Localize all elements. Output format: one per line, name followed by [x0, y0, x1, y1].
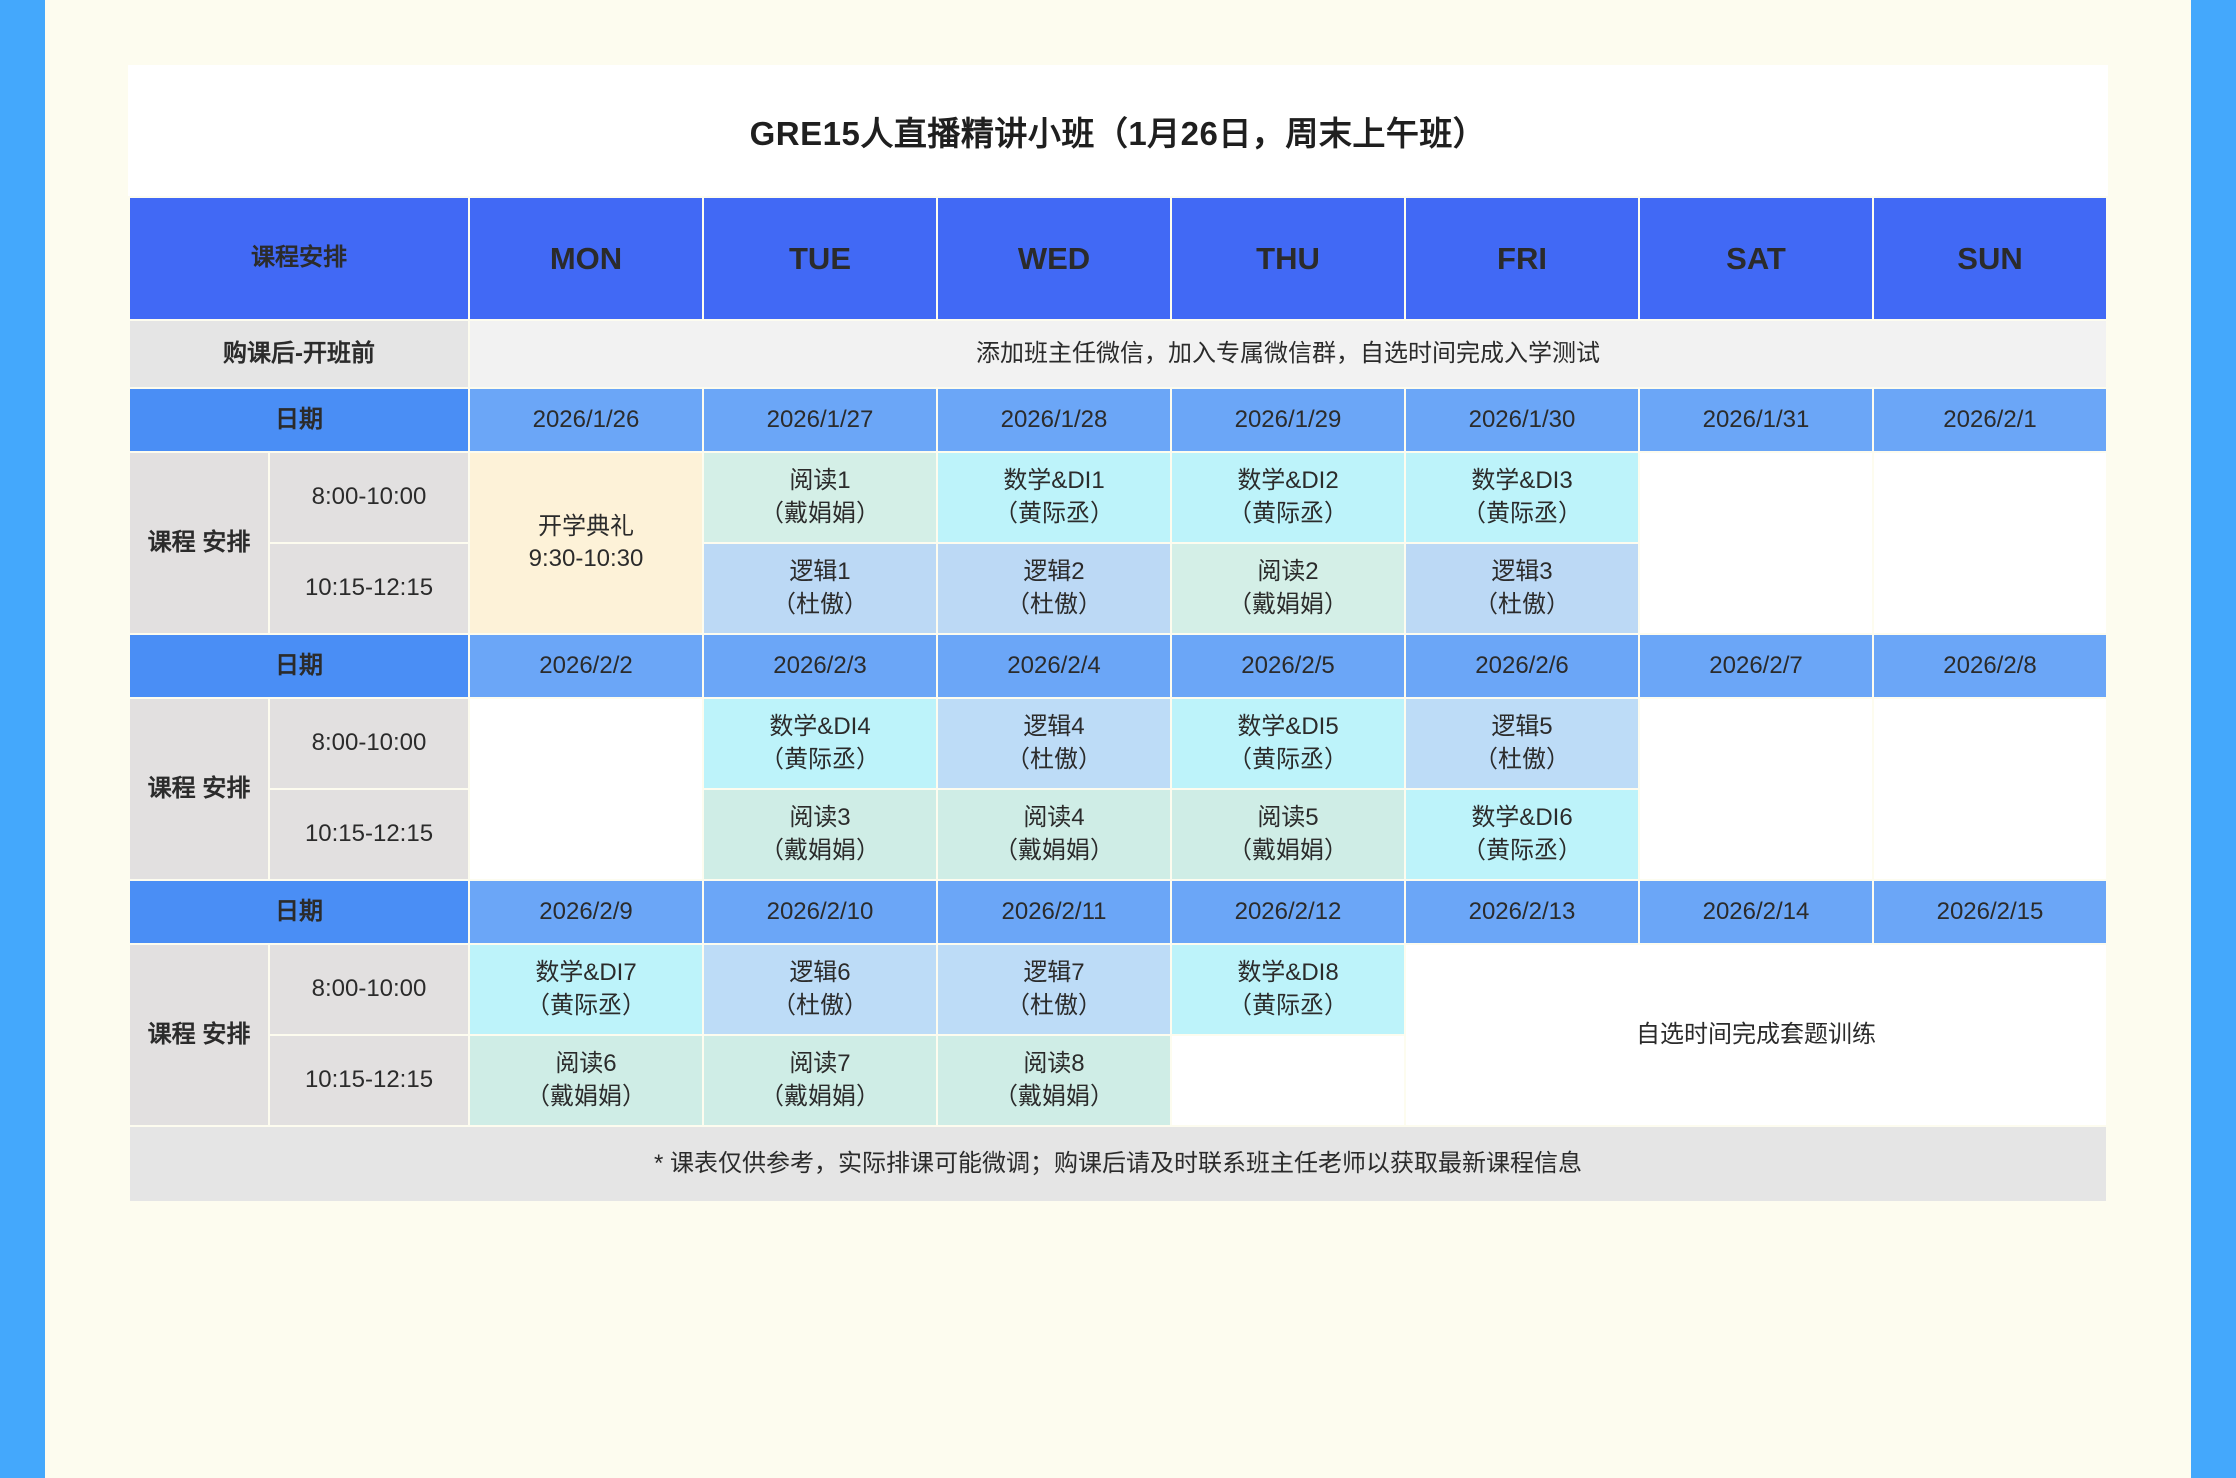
class-title: 阅读1	[704, 465, 936, 497]
date-row-week1: 日期 2026/1/26 2026/1/27 2026/1/28 2026/1/…	[129, 388, 2107, 452]
class-cell: 逻辑4 （杜傲）	[937, 698, 1171, 789]
table-header-row: 课程安排 MON TUE WED THU FRI SAT SUN	[129, 197, 2107, 320]
date-cell: 2026/2/1	[1873, 388, 2107, 452]
header-day-sat: SAT	[1639, 197, 1873, 320]
class-cell: 逻辑7 （杜傲）	[937, 944, 1171, 1035]
class-cell: 数学&DI7 （黄际丞）	[469, 944, 703, 1035]
header-day-wed: WED	[937, 197, 1171, 320]
time-slot-morning: 8:00-10:00	[269, 944, 469, 1035]
time-slot-late: 10:15-12:15	[269, 789, 469, 880]
class-title: 数学&DI8	[1172, 957, 1404, 989]
class-title: 逻辑5	[1406, 711, 1638, 743]
time-slot-morning: 8:00-10:00	[269, 452, 469, 543]
class-cell: 数学&DI1 （黄际丞）	[937, 452, 1171, 543]
class-title: 逻辑3	[1406, 556, 1638, 588]
date-row-label-3: 日期	[129, 880, 469, 944]
class-row-week3-morning: 课程 安排 8:00-10:00 数学&DI7 （黄际丞） 逻辑6 （杜傲） 逻…	[129, 944, 2107, 1035]
date-cell: 2026/2/2	[469, 634, 703, 698]
header-day-mon: MON	[469, 197, 703, 320]
class-cell: 阅读7 （戴娟娟）	[703, 1035, 937, 1126]
date-cell: 2026/2/8	[1873, 634, 2107, 698]
class-cell: 阅读3 （戴娟娟）	[703, 789, 937, 880]
class-title: 数学&DI3	[1406, 465, 1638, 497]
class-title: 数学&DI5	[1172, 711, 1404, 743]
date-cell: 2026/1/27	[703, 388, 937, 452]
header-day-sun: SUN	[1873, 197, 2107, 320]
date-cell: 2026/2/3	[703, 634, 937, 698]
date-cell: 2026/1/29	[1171, 388, 1405, 452]
class-cell: 阅读6 （戴娟娟）	[469, 1035, 703, 1126]
schedule-sheet: GRE15人直播精讲小班（1月26日，周末上午班） 课程安排 MON TUE W…	[128, 65, 2108, 1203]
date-cell: 2026/1/30	[1405, 388, 1639, 452]
class-teacher: （杜傲）	[1406, 589, 1638, 621]
class-cell-empty	[1639, 698, 1873, 880]
class-teacher: （黄际丞）	[1172, 990, 1404, 1022]
class-time: 9:30-10:30	[470, 543, 702, 575]
class-teacher: （戴娟娟）	[704, 498, 936, 530]
class-title: 阅读5	[1172, 802, 1404, 834]
class-title: 逻辑7	[938, 957, 1170, 989]
class-row-week2-morning: 课程 安排 8:00-10:00 数学&DI4 （黄际丞） 逻辑4 （杜傲） 数…	[129, 698, 2107, 789]
time-slot-morning: 8:00-10:00	[269, 698, 469, 789]
class-teacher: （黄际丞）	[1406, 498, 1638, 530]
class-title: 逻辑1	[704, 556, 936, 588]
date-cell: 2026/2/10	[703, 880, 937, 944]
class-teacher: （杜傲）	[1406, 744, 1638, 776]
class-teacher: （戴娟娟）	[704, 1081, 936, 1113]
class-cell-empty	[469, 698, 703, 880]
date-cell: 2026/1/26	[469, 388, 703, 452]
class-title: 数学&DI6	[1406, 802, 1638, 834]
date-cell: 2026/2/11	[937, 880, 1171, 944]
date-cell: 2026/2/13	[1405, 880, 1639, 944]
page-title: GRE15人直播精讲小班（1月26日，周末上午班）	[750, 107, 1487, 155]
category-label-line1: 课程	[148, 775, 196, 802]
class-teacher: （黄际丞）	[1406, 835, 1638, 867]
class-cell-empty	[1171, 1035, 1405, 1126]
header-schedule-label: 课程安排	[129, 197, 469, 320]
date-cell: 2026/2/15	[1873, 880, 2107, 944]
category-label-line2: 安排	[202, 775, 250, 802]
class-title: 逻辑4	[938, 711, 1170, 743]
class-cell: 逻辑1 （杜傲）	[703, 543, 937, 634]
date-cell: 2026/2/14	[1639, 880, 1873, 944]
date-cell: 2026/2/6	[1405, 634, 1639, 698]
class-title: 数学&DI2	[1172, 465, 1404, 497]
category-label-line1: 课程	[148, 529, 196, 556]
pre-class-text: 添加班主任微信，加入专属微信群，自选时间完成入学测试	[469, 320, 2107, 388]
class-teacher: （杜傲）	[704, 589, 936, 621]
class-title: 逻辑6	[704, 957, 936, 989]
date-row-week3: 日期 2026/2/9 2026/2/10 2026/2/11 2026/2/1…	[129, 880, 2107, 944]
date-row-label-2: 日期	[129, 634, 469, 698]
class-title: 数学&DI1	[938, 465, 1170, 497]
class-teacher: （黄际丞）	[1172, 744, 1404, 776]
date-cell: 2026/1/28	[937, 388, 1171, 452]
date-row-week2: 日期 2026/2/2 2026/2/3 2026/2/4 2026/2/5 2…	[129, 634, 2107, 698]
category-label-3: 课程 安排	[129, 944, 269, 1126]
header-day-thu: THU	[1171, 197, 1405, 320]
class-cell-empty	[1639, 452, 1873, 634]
class-title: 数学&DI4	[704, 711, 936, 743]
class-title: 阅读2	[1172, 556, 1404, 588]
category-label-line1: 课程	[148, 1021, 196, 1048]
date-cell: 2026/2/4	[937, 634, 1171, 698]
class-teacher: （杜傲）	[704, 990, 936, 1022]
class-cell: 阅读2 （戴娟娟）	[1171, 543, 1405, 634]
class-teacher: （杜傲）	[938, 589, 1170, 621]
class-cell: 数学&DI8 （黄际丞）	[1171, 944, 1405, 1035]
class-cell: 数学&DI6 （黄际丞）	[1405, 789, 1639, 880]
header-day-fri: FRI	[1405, 197, 1639, 320]
self-study-note: 自选时间完成套题训练	[1405, 944, 2107, 1126]
class-teacher: （黄际丞）	[1172, 498, 1404, 530]
date-row-label-1: 日期	[129, 388, 469, 452]
left-accent-bar	[0, 0, 45, 1478]
time-slot-late: 10:15-12:15	[269, 543, 469, 634]
class-teacher: （戴娟娟）	[938, 1081, 1170, 1113]
class-title: 阅读6	[470, 1048, 702, 1080]
footnote-text: * 课表仅供参考，实际排课可能微调；购课后请及时联系班主任老师以获取最新课程信息	[129, 1126, 2107, 1202]
date-cell: 2026/2/7	[1639, 634, 1873, 698]
category-label-1: 课程 安排	[129, 452, 269, 634]
class-cell: 阅读8 （戴娟娟）	[937, 1035, 1171, 1126]
class-title: 阅读8	[938, 1048, 1170, 1080]
class-cell: 逻辑2 （杜傲）	[937, 543, 1171, 634]
class-teacher: （戴娟娟）	[1172, 835, 1404, 867]
class-teacher: （杜傲）	[938, 744, 1170, 776]
pre-class-label: 购课后-开班前	[129, 320, 469, 388]
class-cell: 逻辑6 （杜傲）	[703, 944, 937, 1035]
class-teacher: （戴娟娟）	[1172, 589, 1404, 621]
class-cell: 逻辑5 （杜傲）	[1405, 698, 1639, 789]
pre-class-row: 购课后-开班前 添加班主任微信，加入专属微信群，自选时间完成入学测试	[129, 320, 2107, 388]
date-cell: 2026/2/9	[469, 880, 703, 944]
class-teacher: （杜傲）	[938, 990, 1170, 1022]
class-cell: 数学&DI5 （黄际丞）	[1171, 698, 1405, 789]
class-teacher: （黄际丞）	[470, 990, 702, 1022]
category-label-2: 课程 安排	[129, 698, 269, 880]
class-teacher: （戴娟娟）	[704, 835, 936, 867]
class-title: 阅读4	[938, 802, 1170, 834]
class-cell: 数学&DI2 （黄际丞）	[1171, 452, 1405, 543]
class-title: 逻辑2	[938, 556, 1170, 588]
class-cell-empty	[1873, 698, 2107, 880]
class-teacher: （戴娟娟）	[938, 835, 1170, 867]
class-teacher: （黄际丞）	[704, 744, 936, 776]
header-day-tue: TUE	[703, 197, 937, 320]
footnote-row: * 课表仅供参考，实际排课可能微调；购课后请及时联系班主任老师以获取最新课程信息	[129, 1126, 2107, 1202]
class-row-week1-morning: 课程 安排 8:00-10:00 开学典礼 9:30-10:30 阅读1 （戴娟…	[129, 452, 2107, 543]
title-band: GRE15人直播精讲小班（1月26日，周末上午班）	[128, 65, 2108, 196]
class-cell-empty	[1873, 452, 2107, 634]
class-cell: 数学&DI4 （黄际丞）	[703, 698, 937, 789]
time-slot-late: 10:15-12:15	[269, 1035, 469, 1126]
class-cell: 数学&DI3 （黄际丞）	[1405, 452, 1639, 543]
category-label-line2: 安排	[202, 1021, 250, 1048]
class-teacher: （戴娟娟）	[470, 1081, 702, 1113]
class-cell: 阅读5 （戴娟娟）	[1171, 789, 1405, 880]
date-cell: 2026/2/5	[1171, 634, 1405, 698]
class-title: 开学典礼	[470, 511, 702, 543]
class-cell: 逻辑3 （杜傲）	[1405, 543, 1639, 634]
class-title: 阅读7	[704, 1048, 936, 1080]
date-cell: 2026/1/31	[1639, 388, 1873, 452]
class-teacher: （黄际丞）	[938, 498, 1170, 530]
category-label-line2: 安排	[202, 529, 250, 556]
date-cell: 2026/2/12	[1171, 880, 1405, 944]
class-cell: 阅读4 （戴娟娟）	[937, 789, 1171, 880]
schedule-table: 课程安排 MON TUE WED THU FRI SAT SUN 购课后-开班前…	[128, 196, 2108, 1203]
class-cell: 阅读1 （戴娟娟）	[703, 452, 937, 543]
right-accent-bar	[2191, 0, 2236, 1478]
class-title: 数学&DI7	[470, 957, 702, 989]
class-cell-ceremony: 开学典礼 9:30-10:30	[469, 452, 703, 634]
class-title: 阅读3	[704, 802, 936, 834]
